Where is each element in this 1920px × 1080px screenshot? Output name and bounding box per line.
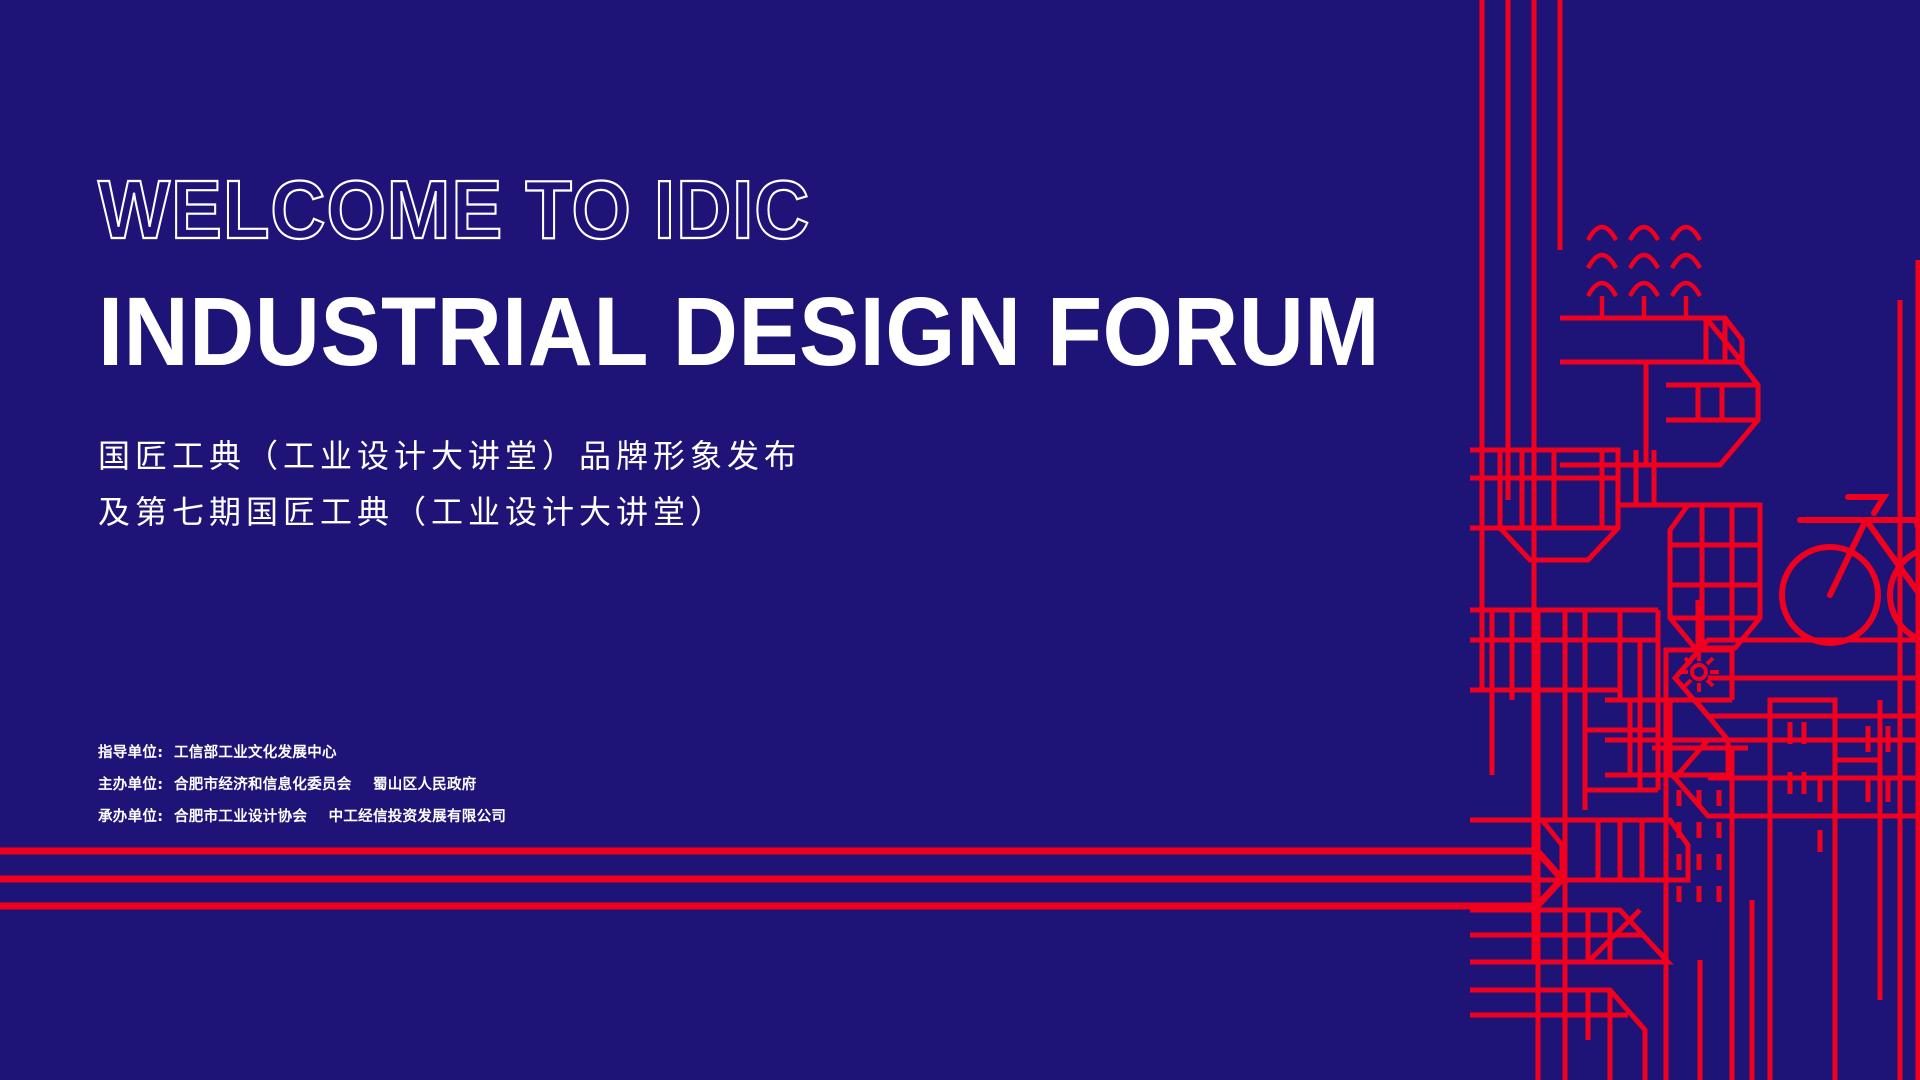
city-block-b bbox=[1560, 362, 1758, 465]
vertical-stripes-icon bbox=[1482, 0, 1560, 960]
bicycle-icon bbox=[1782, 497, 1920, 643]
right-edge-lines bbox=[1900, 260, 1918, 1080]
credit-line-undertaker: 承办单位: 合肥市工业设计协会 中工经信投资发展有限公司 bbox=[98, 802, 506, 834]
credit-line-guidance: 指导单位: 工信部工业文化发展中心 bbox=[98, 738, 506, 770]
city-block-right bbox=[1770, 700, 1888, 1080]
hero-subtitle-line-2: 及第七期国匠工典（工业设计大讲堂） bbox=[98, 484, 1398, 540]
city-block-c bbox=[1470, 450, 1700, 560]
city-block-a bbox=[1560, 318, 1742, 362]
bottom-verticals bbox=[1610, 900, 1752, 1080]
red-lineart-graphic bbox=[1470, 0, 1920, 1080]
hero-subtitle: 国匠工典（工业设计大讲堂）品牌形象发布 及第七期国匠工典（工业设计大讲堂） bbox=[98, 428, 1398, 540]
credits-block: 指导单位: 工信部工业文化发展中心 主办单位: 合肥市经济和信息化委员会 蜀山区… bbox=[98, 738, 506, 834]
tower-windows-icon bbox=[1679, 790, 1719, 902]
tree-grove-icon bbox=[1588, 227, 1700, 318]
poster-canvas: WELCOME TO IDIC INDUSTRIAL DESIGN FORUM … bbox=[0, 0, 1920, 1080]
city-block-e bbox=[1470, 610, 1658, 1080]
rule-1-joint bbox=[1490, 851, 1562, 906]
city-block-g bbox=[1470, 910, 1668, 1080]
sun-burst-icon bbox=[1679, 652, 1719, 692]
credit-line-organizer: 主办单位: 合肥市经济和信息化委员会 蜀山区人民政府 bbox=[98, 770, 506, 802]
city-block-f bbox=[1470, 820, 1688, 880]
hero-headline: INDUSTRIAL DESIGN FORUM bbox=[98, 283, 1307, 380]
city-block-h bbox=[1605, 700, 1728, 775]
hero-kicker: WELCOME TO IDIC bbox=[98, 168, 1294, 251]
sun-tower bbox=[1652, 600, 1748, 1080]
hero-subtitle-line-1: 国匠工典（工业设计大讲堂）品牌形象发布 bbox=[98, 428, 1398, 484]
horizontal-rules bbox=[0, 0, 1920, 1080]
hero-text-block: WELCOME TO IDIC INDUSTRIAL DESIGN FORUM … bbox=[98, 168, 1398, 540]
city-block-d bbox=[1670, 505, 1760, 648]
long-bar-right bbox=[1675, 640, 1920, 816]
